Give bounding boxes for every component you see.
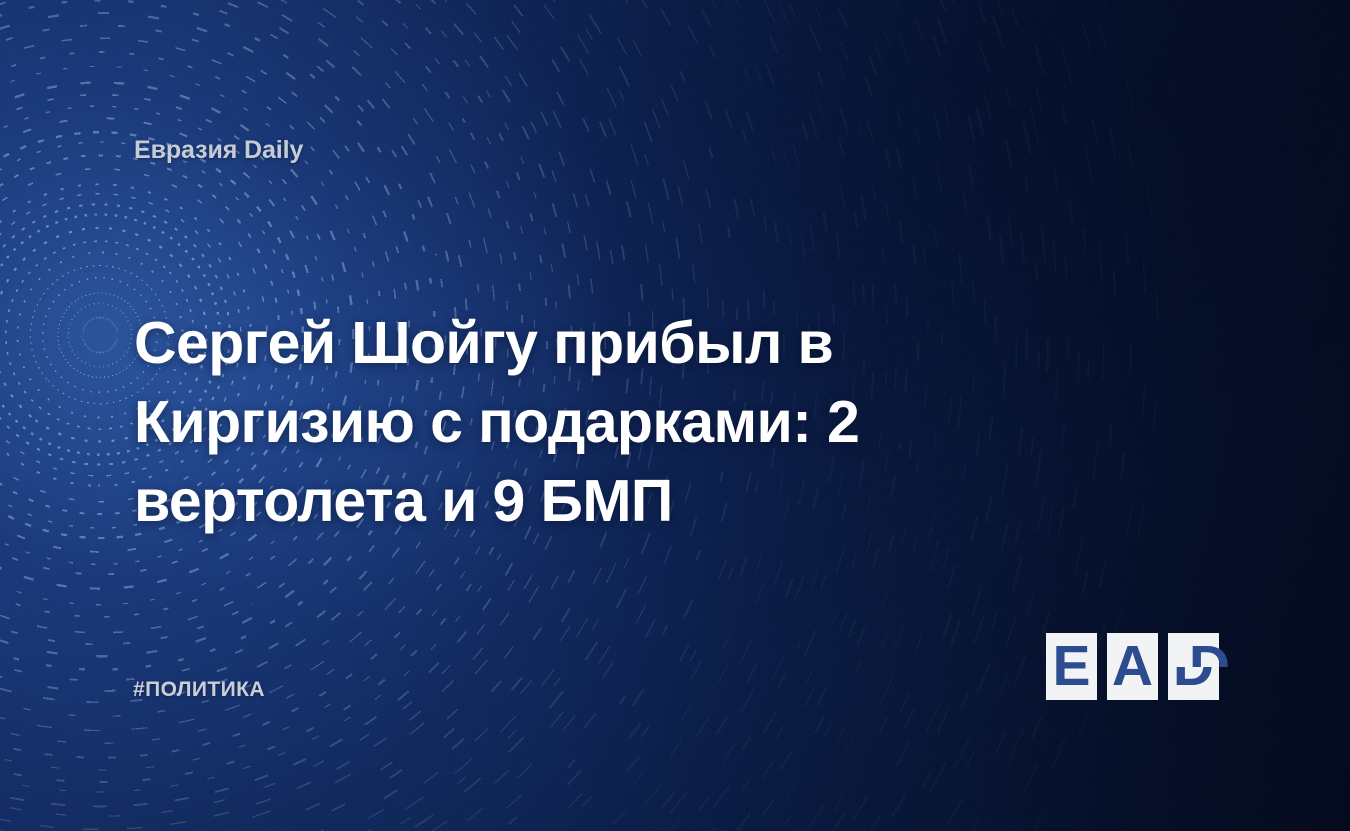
logo-letter-d-lower: D: [1168, 667, 1219, 701]
publisher-name: Евразия Daily: [134, 136, 303, 165]
eadaily-logo[interactable]: E A D D: [1046, 633, 1220, 700]
logo-letter-d-bottom-half: D: [1168, 667, 1242, 701]
card-content: Евразия Daily Сергей Шойгу прибыл в Кирг…: [0, 0, 1350, 831]
headline-title: Сергей Шойгу прибыл в Киргизию с подарка…: [134, 304, 1094, 541]
logo-letter-d-top-half: D: [1168, 633, 1242, 667]
logo-letter-e: E: [1046, 633, 1097, 700]
logo-letter-d-upper: D: [1184, 633, 1235, 667]
category-tag[interactable]: #ПОЛИТИКА: [133, 678, 265, 702]
logo-tile-a: A: [1107, 633, 1158, 700]
news-share-card: Евразия Daily Сергей Шойгу прибыл в Кирг…: [0, 0, 1350, 831]
logo-tile-d: D D: [1168, 633, 1242, 700]
logo-tile-e: E: [1046, 633, 1097, 700]
logo-letter-a: A: [1107, 633, 1158, 700]
